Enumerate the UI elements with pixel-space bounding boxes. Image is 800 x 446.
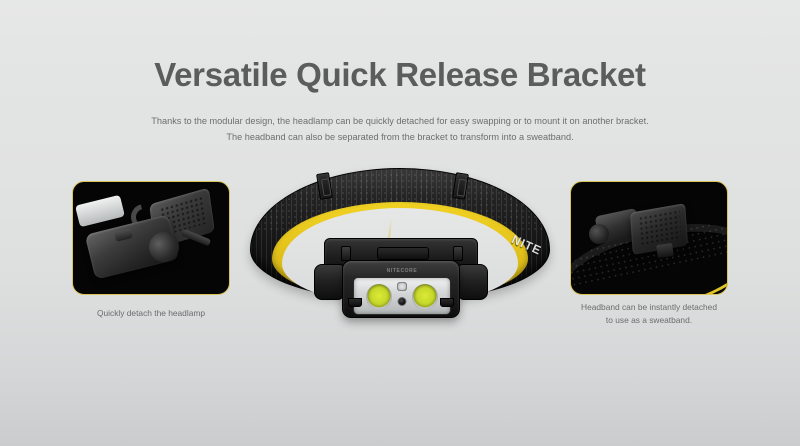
detached-headlamp-illustration: [73, 182, 229, 294]
headlamp-clip-left: [348, 298, 362, 307]
headlamp-clip-right: [440, 298, 454, 307]
bracket-slot: [377, 247, 429, 260]
headlamp-side-left: [314, 264, 344, 300]
lamp-brand-text: NITECORE: [343, 268, 461, 274]
headlamp-side-right: [458, 264, 488, 300]
led-emitter-right: [412, 284, 438, 310]
caption-right: Headband can be instantly detached to us…: [549, 301, 749, 328]
bracket-tab-icon: [656, 243, 674, 258]
light-sensor-icon: [398, 297, 407, 306]
caption-left: Quickly detach the headlamp: [51, 307, 251, 320]
caption-right-line1: Headband can be instantly detached: [549, 301, 749, 314]
headlamp-lens-icon: [75, 195, 125, 227]
product-headlamp: NITE NITECORE: [236, 162, 564, 337]
panel-detachable-sweatband: [570, 181, 728, 295]
headlamp-housing: NITECORE: [342, 260, 460, 318]
bracket-rib-left: [341, 246, 351, 261]
headlamp-knob-icon-right: [589, 224, 609, 244]
led-emitter-left: [366, 284, 392, 310]
panel-quick-detach-headlamp: [72, 181, 230, 295]
headlamp-unit: NITECORE: [318, 238, 484, 322]
caption-right-line2: to use as a sweatband.: [549, 314, 749, 327]
promo-banner: Versatile Quick Release Bracket Thanks t…: [0, 0, 800, 446]
page-subtitle: Thanks to the modular design, the headla…: [150, 113, 650, 145]
page-title: Versatile Quick Release Bracket: [0, 56, 800, 94]
headlamp-lens: [353, 277, 451, 315]
bracket-rib-right: [453, 246, 463, 261]
headband-detaching-illustration: [571, 182, 727, 294]
led-emitter-center: [397, 282, 407, 291]
